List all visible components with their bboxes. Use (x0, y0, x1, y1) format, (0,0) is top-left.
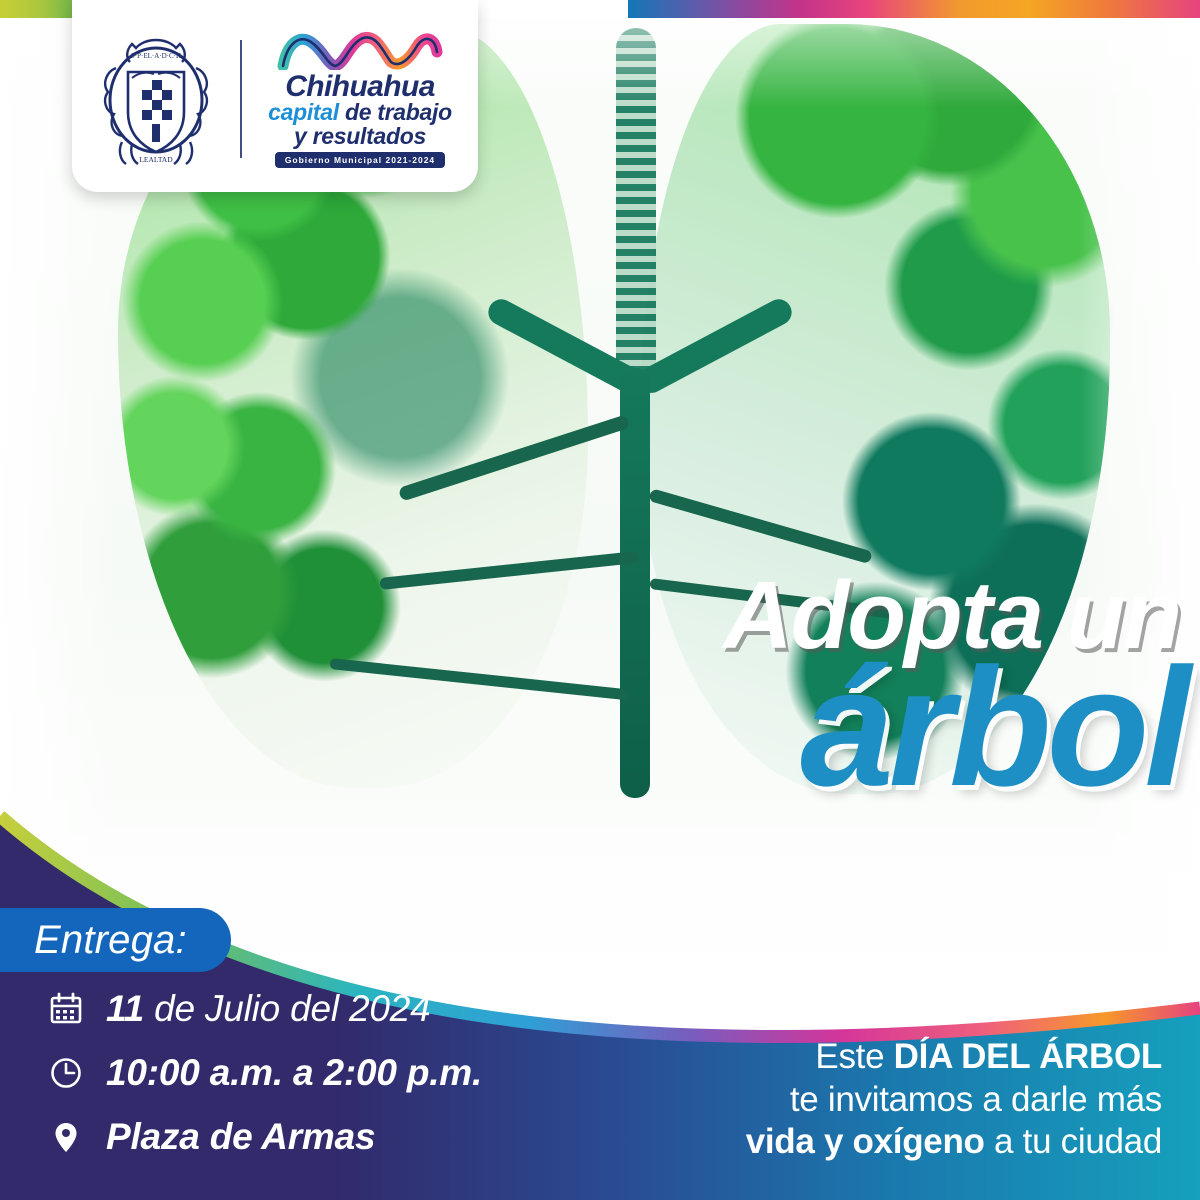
message-line-1: Este DÍA DEL ÁRBOL (622, 1036, 1162, 1079)
government-logo-card: S·P·EL·A·D·C·H LEALTAD Chihuahua capital (72, 0, 478, 192)
list-item: 11 de Julio del 2024 (48, 988, 482, 1030)
top-gradient-bar-left (0, 0, 78, 18)
mountain-arc-icon (277, 30, 443, 70)
delivery-date: 11 de Julio del 2024 (106, 988, 430, 1030)
top-gradient-bar-right (628, 0, 1200, 18)
campaign-message: Este DÍA DEL ÁRBOL te invitamos a darle … (622, 1036, 1162, 1164)
delivery-place-value: Plaza de Armas (106, 1116, 375, 1157)
brand-line-1: Chihuahua (285, 72, 435, 101)
entrega-label: Entrega: (34, 918, 187, 963)
logo-divider (240, 40, 242, 158)
brand-line-2: capital de trabajo (268, 101, 452, 124)
calendar-icon (48, 991, 84, 1027)
message-line-3: vida y oxígeno a tu ciudad (622, 1121, 1162, 1164)
message-line-2: te invitamos a darle más (622, 1079, 1162, 1122)
coat-of-arms-icon: S·P·EL·A·D·C·H LEALTAD (92, 28, 220, 170)
clock-icon (48, 1055, 84, 1091)
message-line-3-regular: a tu ciudad (985, 1122, 1162, 1161)
entrega-pill: Entrega: (0, 908, 231, 972)
message-line-3-bold: vida y oxígeno (746, 1122, 985, 1161)
svg-text:LEALTAD: LEALTAD (139, 155, 173, 164)
brand-line-3: y resultados (294, 125, 426, 148)
delivery-date-day: 11 (106, 988, 144, 1029)
delivery-time-value: 10:00 a.m. a 2:00 p.m. (106, 1052, 482, 1093)
delivery-time: 10:00 a.m. a 2:00 p.m. (106, 1052, 482, 1094)
delivery-place: Plaza de Armas (106, 1116, 375, 1158)
brand-accent-word: capital (268, 99, 339, 125)
message-line-1-bold: DÍA DEL ÁRBOL (894, 1037, 1162, 1076)
chihuahua-brand-lockup: Chihuahua capital de trabajo y resultado… (262, 30, 458, 168)
list-item: Plaza de Armas (48, 1116, 482, 1158)
delivery-info-list: 11 de Julio del 2024 10:00 a.m. a 2:00 p… (48, 988, 482, 1158)
location-pin-icon (48, 1119, 84, 1155)
brand-line-2-rest: de trabajo (339, 99, 452, 125)
message-line-1-regular: Este (815, 1037, 893, 1076)
svg-text:S·P·EL·A·D·C·H: S·P·EL·A·D·C·H (131, 52, 181, 60)
poster-canvas: S·P·EL·A·D·C·H LEALTAD Chihuahua capital (0, 0, 1200, 1200)
brand-tagline: Gobierno Municipal 2021-2024 (275, 152, 445, 168)
delivery-date-rest: de Julio del 2024 (144, 988, 430, 1029)
list-item: 10:00 a.m. a 2:00 p.m. (48, 1052, 482, 1094)
